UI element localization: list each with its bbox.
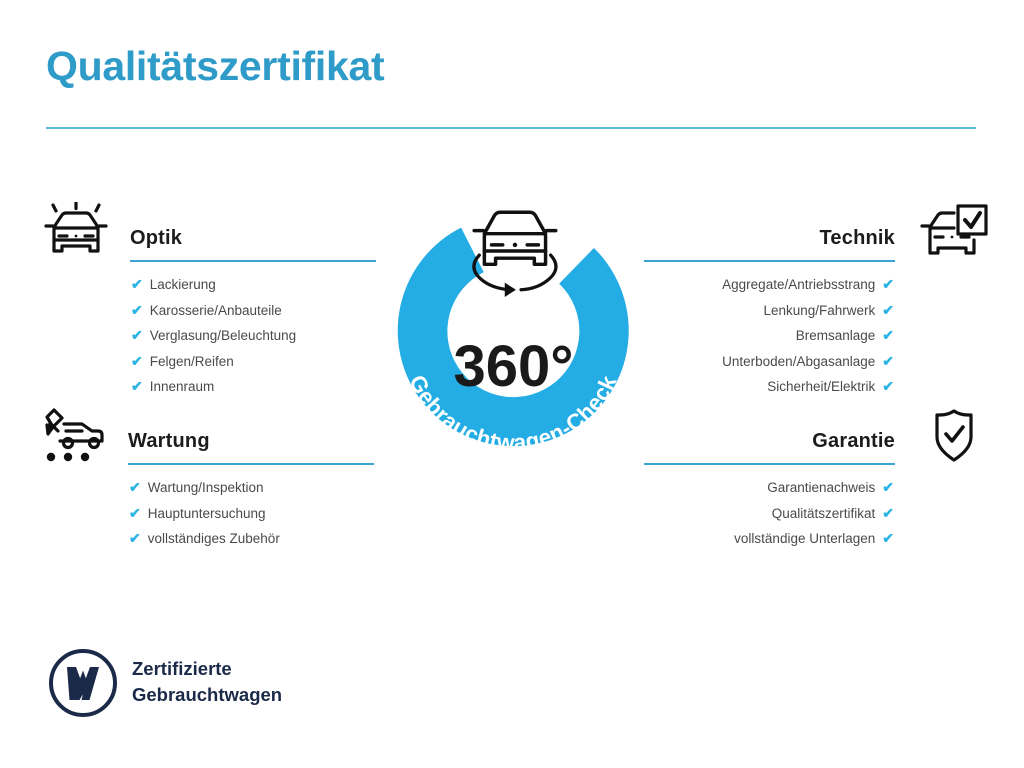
- section-header: Optik: [40, 200, 380, 272]
- section-title-garantie: Garantie: [812, 430, 895, 453]
- list-item-label: Garantienachweis: [767, 480, 875, 495]
- list-item: Qualitätszertifikat✔: [640, 501, 894, 527]
- list-item-label: vollständiges Zubehör: [148, 531, 280, 546]
- list-item-label: Sicherheit/Elektrik: [767, 379, 875, 394]
- check-icon: ✔: [129, 505, 141, 521]
- car-checkbox-icon: [918, 202, 990, 264]
- list-item: ✔vollständiges Zubehör: [129, 526, 378, 552]
- check-icon: ✔: [131, 353, 143, 369]
- section-header: Technik: [640, 200, 990, 272]
- check-icon: ✔: [882, 479, 894, 495]
- list-item: Garantienachweis✔: [640, 475, 894, 501]
- list-item: ✔Felgen/Reifen: [131, 349, 380, 375]
- list-item-label: Lenkung/Fahrwerk: [763, 303, 875, 318]
- check-icon: ✔: [131, 302, 143, 318]
- section-title-optik: Optik: [130, 227, 182, 250]
- car-service-pencil-icon: [38, 405, 110, 467]
- list-item: ✔Wartung/Inspektion: [129, 475, 378, 501]
- check-icon: ✔: [131, 276, 143, 292]
- list-item-label: Qualitätszertifikat: [772, 506, 876, 521]
- footer-line-2: Gebrauchtwagen: [132, 682, 282, 708]
- section-divider-wartung: [128, 463, 374, 465]
- list-item: Unterboden/Abgasanlage✔: [640, 349, 894, 375]
- check-icon: ✔: [882, 353, 894, 369]
- checklist-garantie: Garantienachweis✔ Qualitätszertifikat✔ v…: [640, 475, 894, 552]
- check-icon: ✔: [882, 302, 894, 318]
- list-item: ✔Hauptuntersuchung: [129, 501, 378, 527]
- list-item: vollständige Unterlagen✔: [640, 526, 894, 552]
- section-technik: Technik Aggregate/Antriebsstrang✔ Lenkun…: [640, 200, 990, 400]
- list-item-label: Verglasung/Beleuchtung: [150, 328, 296, 343]
- list-item: Sicherheit/Elektrik✔: [640, 374, 894, 400]
- list-item-label: vollständige Unterlagen: [734, 531, 875, 546]
- section-header: Garantie: [640, 403, 990, 475]
- check-icon: ✔: [131, 378, 143, 394]
- list-item-label: Felgen/Reifen: [150, 354, 234, 369]
- list-item: Lenkung/Fahrwerk✔: [640, 298, 894, 324]
- page-title: Qualitätszertifikat: [46, 46, 384, 87]
- check-icon: ✔: [882, 276, 894, 292]
- list-item-label: Aggregate/Antriebsstrang: [722, 277, 875, 292]
- list-item-label: Bremsanlage: [796, 328, 876, 343]
- check-icon: ✔: [882, 505, 894, 521]
- list-item-label: Hauptuntersuchung: [148, 506, 266, 521]
- section-title-technik: Technik: [820, 227, 896, 250]
- footer-brand-text: Zertifizierte Gebrauchtwagen: [132, 656, 282, 708]
- car-shine-icon: [40, 202, 112, 264]
- section-optik: Optik ✔Lackierung ✔Karosserie/Anbauteile…: [40, 200, 380, 400]
- list-item: ✔Innenraum: [131, 374, 380, 400]
- check-icon: ✔: [882, 378, 894, 394]
- list-item-label: Unterboden/Abgasanlage: [722, 354, 875, 369]
- checklist-optik: ✔Lackierung ✔Karosserie/Anbauteile ✔Verg…: [131, 272, 380, 400]
- check-icon: ✔: [129, 479, 141, 495]
- checklist-technik: Aggregate/Antriebsstrang✔ Lenkung/Fahrwe…: [640, 272, 894, 400]
- section-divider-technik: [644, 260, 895, 262]
- section-header: Wartung: [38, 403, 378, 475]
- list-item: Bremsanlage✔: [640, 323, 894, 349]
- vw-logo-icon: [48, 648, 118, 718]
- list-item-label: Karosserie/Anbauteile: [150, 303, 282, 318]
- list-item: ✔Karosserie/Anbauteile: [131, 298, 380, 324]
- shield-check-icon: [918, 405, 990, 467]
- footer-line-1: Zertifizierte: [132, 656, 282, 682]
- section-divider-optik: [130, 260, 376, 262]
- check-icon: ✔: [129, 530, 141, 546]
- list-item-label: Wartung/Inspektion: [148, 480, 264, 495]
- check-icon: ✔: [882, 530, 894, 546]
- section-wartung: Wartung ✔Wartung/Inspektion ✔Hauptunters…: [38, 403, 378, 552]
- check-icon: ✔: [131, 327, 143, 343]
- section-garantie: Garantie Garantienachweis✔ Qualitätszert…: [640, 403, 990, 552]
- list-item-label: Lackierung: [150, 277, 216, 292]
- check-icon: ✔: [882, 327, 894, 343]
- list-item: ✔Verglasung/Beleuchtung: [131, 323, 380, 349]
- car-rotate-icon: [474, 212, 556, 297]
- section-divider-garantie: [644, 463, 895, 465]
- section-title-wartung: Wartung: [128, 430, 210, 453]
- checklist-wartung: ✔Wartung/Inspektion ✔Hauptuntersuchung ✔…: [129, 475, 378, 552]
- badge-value: 360°: [454, 334, 574, 399]
- list-item: ✔Lackierung: [131, 272, 380, 298]
- list-item: Aggregate/Antriebsstrang✔: [640, 272, 894, 298]
- badge-360-gebrauchtwagen-check: 360° Gebrauchtwagen-Check: [373, 190, 654, 490]
- title-divider: [46, 127, 976, 129]
- list-item-label: Innenraum: [150, 379, 215, 394]
